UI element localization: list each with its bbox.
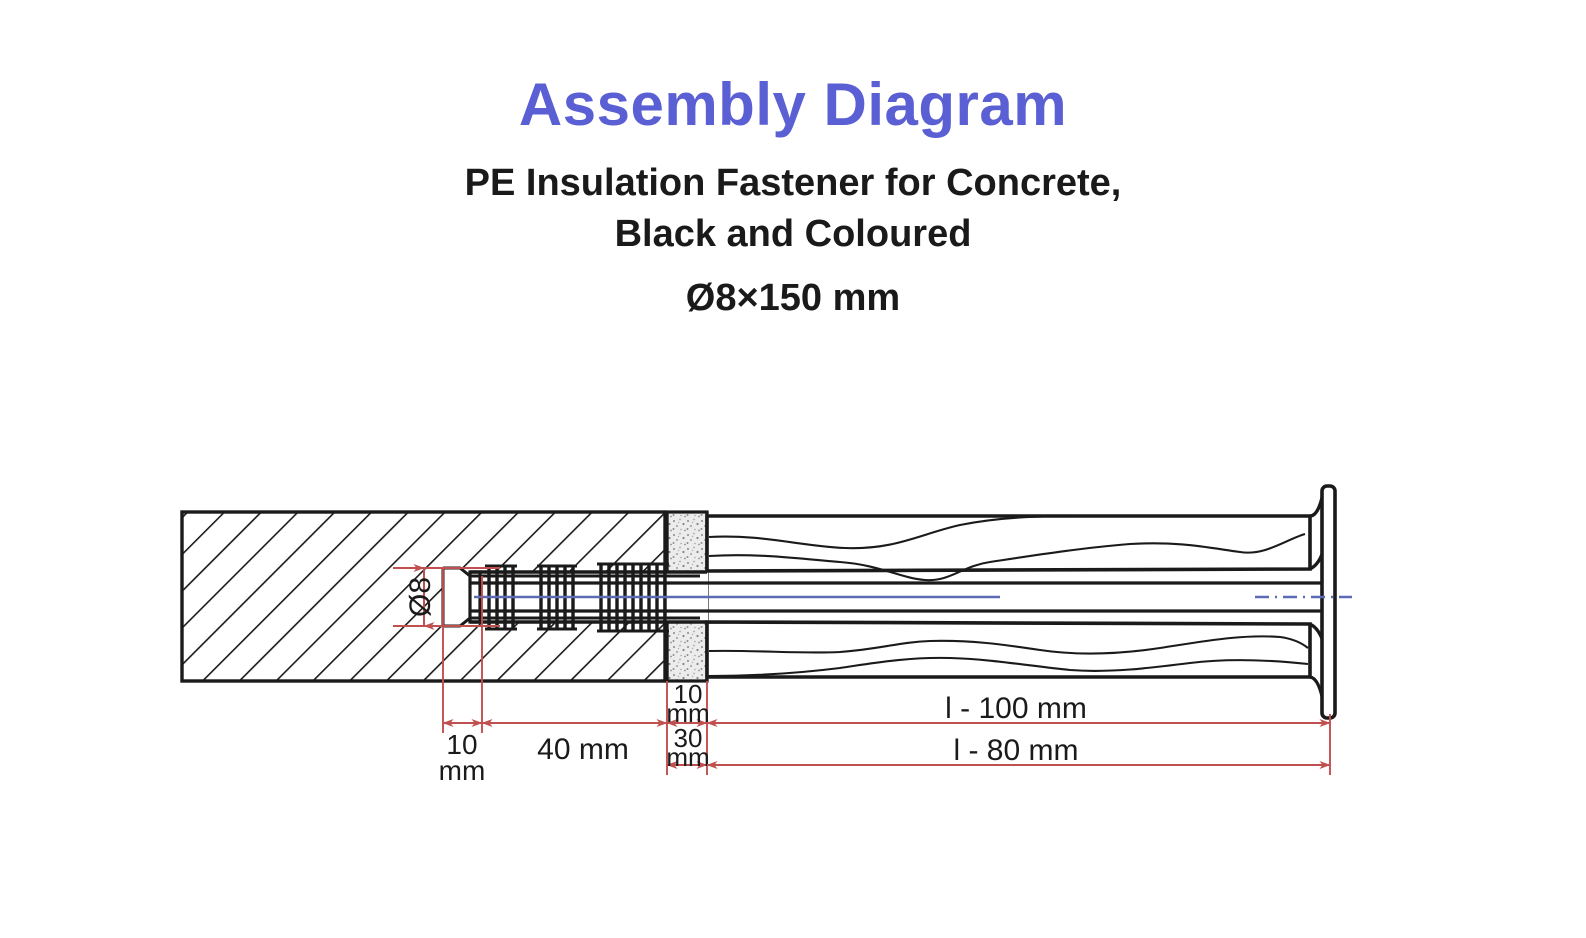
technical-drawing: Ø8 10 mm 40 mm 10 mm l - 100 mm — [0, 0, 1586, 938]
dim-label-l-100mm: l - 100 mm — [945, 692, 1087, 725]
dimension-row-upper: 10 mm 40 mm 10 mm l - 100 mm — [439, 679, 1330, 786]
dimension-row-lower: 30 mm l - 80 mm — [666, 723, 1330, 772]
dim-label-40mm: 40 mm — [537, 733, 629, 766]
assembly-diagram-page: Assembly Diagram PE Insulation Fastener … — [0, 0, 1586, 938]
diameter-label: Ø8 — [404, 577, 437, 617]
fastener-flange-head — [1322, 486, 1335, 718]
dim-unit-30mm: mm — [666, 742, 709, 772]
section-drawing-svg: Ø8 10 mm 40 mm 10 mm l - 100 mm — [0, 0, 1586, 938]
dim-label-l-80mm: l - 80 mm — [953, 734, 1078, 767]
dim-unit-10mm-chamfer: mm — [439, 755, 486, 786]
